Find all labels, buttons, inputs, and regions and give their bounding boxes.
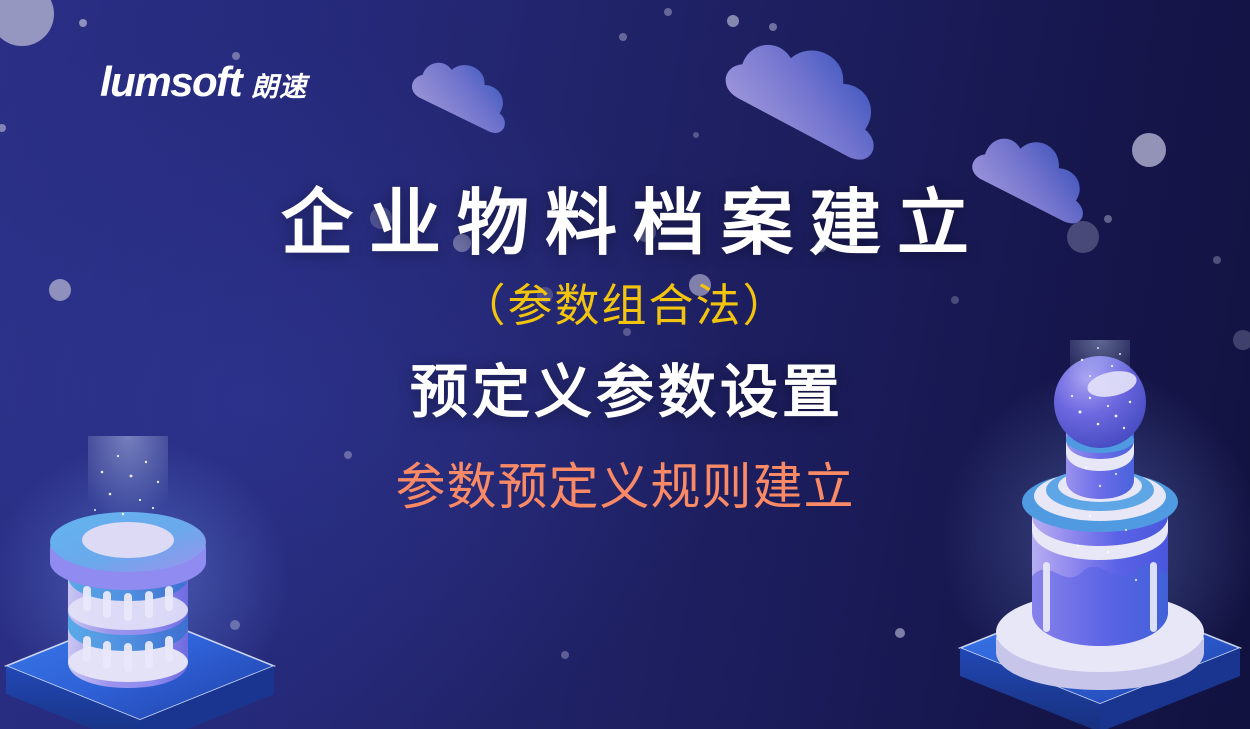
decorative-dot bbox=[619, 33, 627, 41]
cloud-small-icon bbox=[405, 52, 535, 162]
right-illustration-sphere-tower bbox=[940, 340, 1250, 710]
decorative-dot bbox=[0, 0, 54, 46]
cloud-medium-icon bbox=[962, 128, 1112, 248]
brand-logo[interactable]: lumsoft 朗速 bbox=[100, 58, 307, 106]
decorative-dot bbox=[561, 651, 569, 659]
decorative-dot bbox=[344, 451, 352, 459]
decorative-dot bbox=[664, 8, 672, 16]
decorative-dot bbox=[815, 240, 827, 252]
decorative-dot bbox=[1213, 256, 1221, 264]
decorative-dot bbox=[727, 15, 739, 27]
decorative-dot bbox=[370, 207, 392, 229]
left-illustration-database-tower bbox=[0, 430, 290, 729]
cloud-large-icon bbox=[712, 28, 922, 193]
decorative-dot bbox=[693, 132, 699, 138]
logo-wordmark: lumsoft bbox=[100, 58, 241, 106]
decorative-dot bbox=[689, 274, 711, 296]
decorative-dot bbox=[79, 19, 87, 27]
decorative-dot bbox=[453, 234, 471, 252]
decorative-dot bbox=[1132, 133, 1166, 167]
poster-canvas: lumsoft 朗速 企业物料档案建立 （参数组合法） 预定义参数设置 参数预定… bbox=[0, 0, 1250, 729]
page-subtitle: （参数组合法） bbox=[0, 278, 1250, 334]
decorative-dot bbox=[49, 279, 71, 301]
decorative-dot bbox=[636, 222, 656, 242]
decorative-dot bbox=[951, 296, 959, 304]
decorative-dot bbox=[0, 124, 6, 132]
decorative-dot bbox=[537, 287, 553, 303]
decorative-dot bbox=[504, 201, 512, 209]
logo-chinese-name: 朗速 bbox=[251, 65, 307, 104]
decorative-dot bbox=[623, 328, 631, 336]
decorative-dot bbox=[895, 628, 905, 638]
